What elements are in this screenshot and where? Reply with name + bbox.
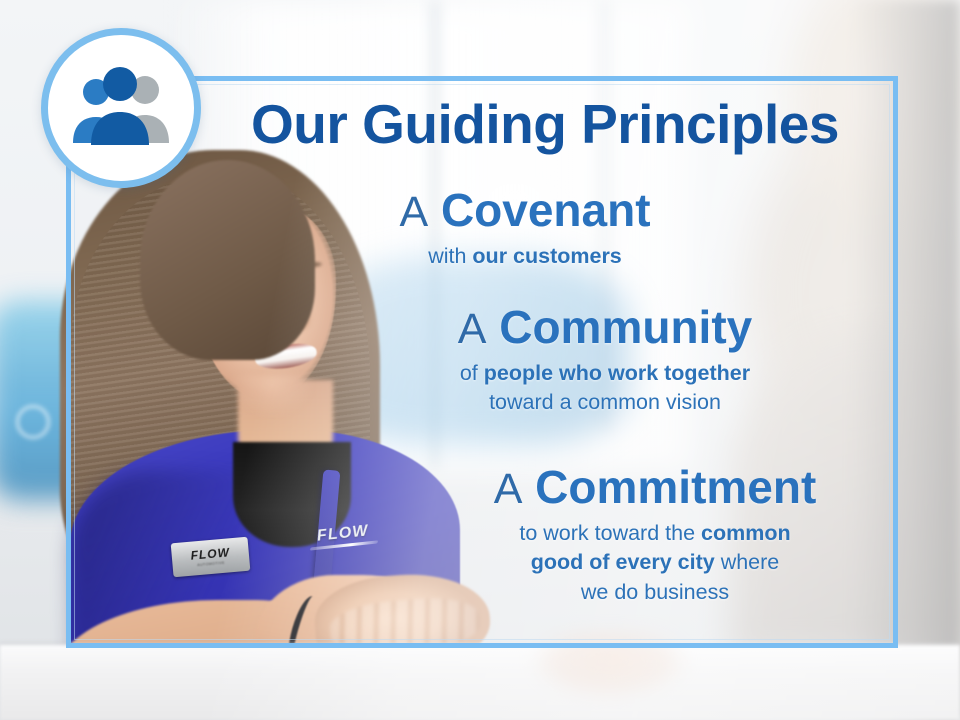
subtext-line: with our customers	[330, 242, 720, 272]
page-title: Our Guiding Principles	[215, 96, 875, 154]
subtext-line: toward a common vision	[370, 388, 840, 418]
principle-subtext-community: of people who work togethertoward a comm…	[370, 359, 840, 418]
principle-block-community: A Community of people who work togethert…	[370, 303, 840, 418]
name-badge-brand: FLOW	[190, 546, 230, 561]
principle-article: A	[399, 188, 428, 236]
subtext-run: toward a common vision	[489, 390, 721, 414]
subtext-run: we do business	[581, 580, 729, 604]
subtext-line: good of every city where	[420, 548, 890, 578]
principle-block-covenant: A Covenant with our customers	[330, 186, 720, 271]
principle-heading-covenant: A Covenant	[330, 186, 720, 236]
principle-keyword: Covenant	[441, 184, 651, 236]
blurred-brand-emblem	[16, 405, 50, 439]
principle-article: A	[494, 465, 523, 513]
principle-keyword: Commitment	[535, 461, 816, 513]
principle-block-commitment: A Commitment to work toward the commongo…	[420, 463, 890, 608]
banner-graphic: FLOW AUTOMOTIVE FLOW	[0, 0, 960, 720]
principle-subtext-commitment: to work toward the commongood of every c…	[420, 519, 890, 608]
subtext-run: of	[460, 361, 484, 385]
subtext-emphasis: people who work together	[484, 361, 750, 385]
subtext-emphasis: common	[701, 521, 791, 545]
principle-subtext-covenant: with our customers	[330, 242, 720, 272]
employee-chin	[232, 375, 312, 415]
subtext-run: where	[715, 550, 780, 574]
subtext-emphasis: our customers	[472, 244, 621, 268]
principle-article: A	[458, 305, 487, 353]
subtext-line: we do business	[420, 578, 890, 608]
subtext-line: of people who work together	[370, 359, 840, 389]
people-group-icon	[69, 67, 173, 149]
principle-keyword: Community	[499, 301, 752, 353]
employee-name-badge: FLOW AUTOMOTIVE	[171, 537, 251, 578]
principle-heading-commitment: A Commitment	[420, 463, 890, 513]
employee-hair-front	[140, 160, 315, 360]
white-desk	[0, 645, 960, 720]
customer-hand	[520, 630, 700, 720]
subtext-run: to work toward the	[519, 521, 701, 545]
principle-heading-community: A Community	[370, 303, 840, 353]
subtext-line: to work toward the common	[420, 519, 890, 549]
subtext-emphasis: good of every city	[531, 550, 715, 574]
principles-badge	[41, 28, 201, 188]
subtext-run: with	[428, 244, 472, 268]
